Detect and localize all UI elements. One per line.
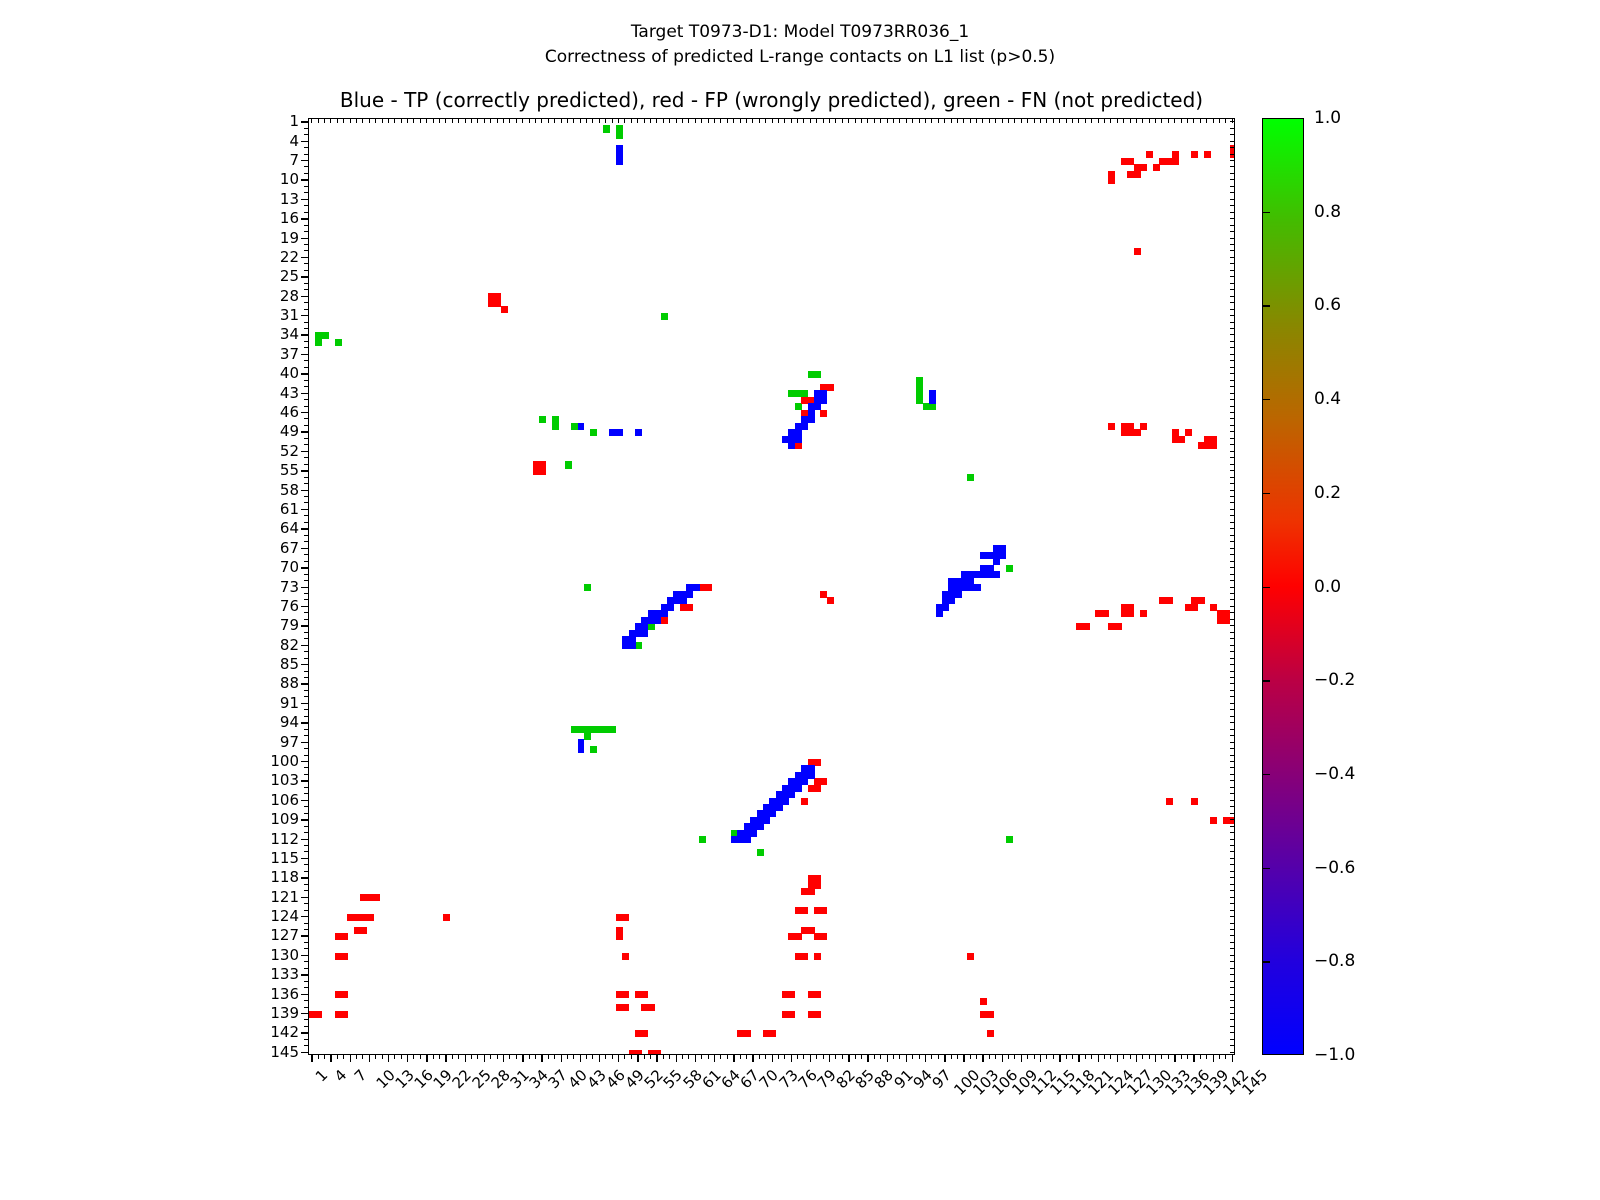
- y-minor-tick-right: [1230, 160, 1235, 161]
- contact-cell-fn: [539, 416, 546, 423]
- x-minor-tick-top: [465, 118, 466, 123]
- y-minor-tick: [304, 690, 308, 691]
- y-minor-tick-right: [1230, 218, 1235, 219]
- x-minor-tick-top: [618, 118, 619, 123]
- contact-cell-fp: [987, 1030, 994, 1037]
- y-minor-tick-right: [1230, 690, 1235, 691]
- contact-cell-tp: [667, 597, 674, 604]
- y-minor-tick: [304, 748, 308, 749]
- y-minor-tick-right: [1230, 121, 1235, 122]
- x-minor-tick-top: [791, 118, 792, 123]
- y-minor-tick-right: [1230, 696, 1235, 697]
- x-minor-tick-top: [311, 118, 312, 123]
- y-minor-tick-right: [1230, 1007, 1235, 1008]
- x-minor-tick: [631, 1055, 632, 1059]
- x-minor-tick: [420, 1055, 421, 1059]
- contact-cell-fn: [603, 125, 610, 132]
- x-minor-tick: [1053, 1055, 1054, 1059]
- y-minor-tick-right: [1230, 205, 1235, 206]
- y-minor-tick: [304, 619, 308, 620]
- x-minor-tick-top: [1168, 118, 1169, 123]
- y-axis-tick-label: 22: [280, 248, 299, 266]
- y-minor-tick: [304, 457, 308, 458]
- colorbar-tick-label: 1.0: [1314, 108, 1341, 128]
- contact-cell-fn: [814, 371, 821, 378]
- y-major-tick: [301, 1013, 308, 1014]
- x-major-tick: [1136, 1055, 1137, 1062]
- y-minor-tick: [304, 1045, 308, 1046]
- x-minor-tick-top: [1181, 118, 1182, 123]
- x-minor-tick: [970, 1055, 971, 1059]
- y-minor-tick: [304, 832, 308, 833]
- y-minor-tick-right: [1230, 451, 1235, 452]
- x-minor-tick: [880, 1055, 881, 1059]
- contact-cell-tp: [616, 429, 623, 436]
- x-minor-tick: [324, 1055, 325, 1059]
- y-axis-tick-label: 46: [280, 403, 299, 421]
- x-minor-tick: [458, 1055, 459, 1059]
- y-minor-tick-right: [1230, 574, 1235, 575]
- x-minor-tick: [650, 1055, 651, 1059]
- contact-cell-tp: [661, 610, 668, 617]
- y-major-tick: [301, 160, 308, 161]
- x-minor-tick-top: [880, 118, 881, 123]
- y-minor-tick-right: [1230, 263, 1235, 264]
- contact-cell-fp: [1204, 151, 1211, 158]
- y-minor-tick-right: [1230, 334, 1235, 335]
- x-minor-tick-top: [976, 118, 977, 123]
- contact-cell-fp: [622, 1004, 629, 1011]
- contact-cell-fp: [814, 953, 821, 960]
- contact-cell-tp: [999, 552, 1006, 559]
- x-minor-tick-top: [746, 118, 747, 123]
- y-major-tick: [301, 238, 308, 239]
- y-minor-tick-right: [1230, 386, 1235, 387]
- x-major-tick: [426, 1055, 427, 1062]
- contact-cell-fn: [699, 836, 706, 843]
- x-minor-tick: [874, 1055, 875, 1059]
- y-major-tick: [301, 315, 308, 316]
- x-minor-tick-top: [497, 118, 498, 123]
- x-major-tick: [1232, 1055, 1233, 1062]
- contact-cell-tp: [967, 578, 974, 585]
- y-minor-tick-right: [1230, 645, 1235, 646]
- contact-cell-tp: [788, 442, 795, 449]
- y-axis-tick-label: 10: [280, 170, 299, 188]
- x-major-tick: [599, 1055, 600, 1062]
- x-major-tick: [656, 1055, 657, 1062]
- x-minor-tick-top: [624, 118, 625, 123]
- x-minor-tick-top: [1040, 118, 1041, 123]
- contact-cell-fp: [827, 597, 834, 604]
- y-axis-tick-label: 25: [280, 267, 299, 285]
- x-minor-tick: [356, 1055, 357, 1059]
- x-minor-tick-top: [503, 118, 504, 123]
- y-minor-tick: [304, 755, 308, 756]
- contact-cell-fp: [661, 617, 668, 624]
- contact-cell-fp: [686, 604, 693, 611]
- y-minor-tick-right: [1230, 677, 1235, 678]
- y-minor-tick-right: [1230, 716, 1235, 717]
- x-minor-tick: [401, 1055, 402, 1059]
- y-minor-tick-right: [1230, 380, 1235, 381]
- x-minor-tick-top: [772, 118, 773, 123]
- x-minor-tick: [644, 1055, 645, 1059]
- x-major-tick: [714, 1055, 715, 1062]
- x-minor-tick: [592, 1055, 593, 1059]
- x-minor-tick-top: [413, 118, 414, 123]
- x-minor-tick-top: [963, 118, 964, 123]
- y-minor-tick-right: [1230, 244, 1235, 245]
- colorbar-tick-label: 0.8: [1314, 202, 1341, 222]
- y-minor-tick: [304, 541, 308, 542]
- x-minor-tick: [554, 1055, 555, 1059]
- y-minor-tick: [304, 360, 308, 361]
- y-axis-tick-label: 79: [280, 616, 299, 634]
- x-major-tick: [311, 1055, 312, 1062]
- y-minor-tick: [304, 302, 308, 303]
- x-minor-tick-top: [708, 118, 709, 123]
- y-axis-tick-label: 97: [280, 733, 299, 751]
- x-major-tick: [1193, 1055, 1194, 1062]
- contact-cell-tp: [731, 836, 738, 843]
- x-minor-tick: [1130, 1055, 1131, 1059]
- y-minor-tick-right: [1230, 864, 1235, 865]
- x-minor-tick-top: [714, 118, 715, 123]
- y-axis-tick-label: 121: [270, 888, 299, 906]
- colorbar-tick-label: −0.4: [1314, 764, 1355, 784]
- contact-cell-fp: [1140, 164, 1147, 171]
- x-minor-tick-top: [631, 118, 632, 123]
- y-minor-tick-right: [1230, 948, 1235, 949]
- x-minor-tick-top: [1123, 118, 1124, 123]
- y-minor-tick-right: [1230, 619, 1235, 620]
- contact-cell-tp: [629, 642, 636, 649]
- y-minor-tick: [304, 884, 308, 885]
- x-minor-tick-top: [803, 118, 804, 123]
- x-minor-tick: [938, 1055, 939, 1059]
- x-minor-tick-top: [759, 118, 760, 123]
- x-minor-tick-top: [324, 118, 325, 123]
- contact-map-plot: [308, 118, 1235, 1055]
- x-minor-tick-top: [529, 118, 530, 123]
- x-minor-tick: [989, 1055, 990, 1059]
- contact-cell-tp: [942, 604, 949, 611]
- x-major-tick: [829, 1055, 830, 1062]
- y-major-tick: [301, 548, 308, 549]
- y-minor-tick: [304, 658, 308, 659]
- x-minor-tick: [803, 1055, 804, 1059]
- x-minor-tick: [1187, 1055, 1188, 1059]
- y-axis-tick-label: 19: [280, 229, 299, 247]
- y-minor-tick: [304, 322, 308, 323]
- x-minor-tick-top: [1161, 118, 1162, 123]
- y-axis-tick-label: 91: [280, 694, 299, 712]
- x-minor-tick-top: [1136, 118, 1137, 123]
- x-minor-tick: [688, 1055, 689, 1059]
- x-major-tick: [1002, 1055, 1003, 1062]
- y-minor-tick: [304, 806, 308, 807]
- contact-cell-fp: [1185, 429, 1192, 436]
- x-minor-tick: [1085, 1055, 1086, 1059]
- contact-cell-fn: [335, 339, 342, 346]
- y-minor-tick-right: [1230, 270, 1235, 271]
- x-minor-tick: [452, 1055, 453, 1059]
- x-minor-tick: [931, 1055, 932, 1059]
- contact-cell-fn: [757, 849, 764, 856]
- y-major-tick: [301, 587, 308, 588]
- x-minor-tick: [1091, 1055, 1092, 1059]
- x-minor-tick: [605, 1055, 606, 1059]
- x-minor-tick-top: [337, 118, 338, 123]
- contact-cell-fp: [341, 953, 348, 960]
- contact-cell-fn: [590, 746, 597, 753]
- colorbar-tick: [1262, 587, 1270, 588]
- contact-cell-tp: [757, 823, 764, 830]
- x-minor-tick-top: [382, 118, 383, 123]
- x-minor-tick-top: [695, 118, 696, 123]
- y-minor-tick-right: [1230, 548, 1235, 549]
- y-minor-tick: [304, 477, 308, 478]
- y-axis-tick-label: 112: [270, 830, 299, 848]
- y-major-tick: [301, 877, 308, 878]
- x-minor-tick-top: [484, 118, 485, 123]
- y-minor-tick-right: [1230, 128, 1235, 129]
- contact-cell-fp: [1223, 617, 1230, 624]
- x-major-tick: [1040, 1055, 1041, 1062]
- y-minor-tick: [304, 289, 308, 290]
- y-minor-tick-right: [1230, 729, 1235, 730]
- y-minor-tick: [304, 502, 308, 503]
- contact-cell-fn: [661, 313, 668, 320]
- y-minor-tick-right: [1230, 1000, 1235, 1001]
- y-minor-tick-right: [1230, 490, 1235, 491]
- y-minor-tick-right: [1230, 406, 1235, 407]
- x-minor-tick-top: [701, 118, 702, 123]
- contact-cell-fp: [814, 991, 821, 998]
- contact-cell-fp: [801, 953, 808, 960]
- colorbar-tick-label: 0.4: [1314, 389, 1341, 409]
- y-minor-tick-right: [1230, 315, 1235, 316]
- y-minor-tick: [304, 871, 308, 872]
- x-minor-tick: [861, 1055, 862, 1059]
- x-minor-tick-top: [586, 118, 587, 123]
- y-major-tick: [301, 451, 308, 452]
- y-minor-tick: [304, 399, 308, 400]
- y-axis-tick-label: 49: [280, 422, 299, 440]
- contact-cell-fn: [584, 733, 591, 740]
- y-minor-tick: [304, 709, 308, 710]
- contact-cell-fp: [641, 1030, 648, 1037]
- y-minor-tick: [304, 651, 308, 652]
- contact-cell-tp: [961, 584, 968, 591]
- x-minor-tick-top: [1110, 118, 1111, 123]
- y-minor-tick: [304, 244, 308, 245]
- contact-cell-fn: [1006, 565, 1013, 572]
- y-minor-tick-right: [1230, 276, 1235, 277]
- y-minor-tick-right: [1230, 658, 1235, 659]
- x-minor-tick-top: [1085, 118, 1086, 123]
- x-minor-tick-top: [848, 118, 849, 123]
- x-minor-tick-top: [522, 118, 523, 123]
- contact-cell-fp: [616, 933, 623, 940]
- y-major-tick: [301, 935, 308, 936]
- x-minor-tick: [899, 1055, 900, 1059]
- x-minor-tick: [1206, 1055, 1207, 1059]
- x-axis-tick-label: 4: [331, 1066, 350, 1085]
- x-minor-tick-top: [369, 118, 370, 123]
- y-minor-tick-right: [1230, 147, 1235, 148]
- x-minor-tick: [1161, 1055, 1162, 1059]
- contact-cell-tp: [993, 571, 1000, 578]
- y-minor-tick-right: [1230, 897, 1235, 898]
- x-minor-tick: [516, 1055, 517, 1059]
- x-minor-tick: [413, 1055, 414, 1059]
- contact-cell-tp: [980, 571, 987, 578]
- contact-cell-fn: [565, 461, 572, 468]
- x-minor-tick: [823, 1055, 824, 1059]
- x-minor-tick: [490, 1055, 491, 1059]
- y-minor-tick: [304, 942, 308, 943]
- y-minor-tick: [304, 522, 308, 523]
- y-minor-tick: [304, 496, 308, 497]
- x-major-tick: [906, 1055, 907, 1062]
- x-minor-tick: [855, 1055, 856, 1059]
- y-minor-tick-right: [1230, 774, 1235, 775]
- x-minor-tick-top: [989, 118, 990, 123]
- y-minor-tick-right: [1230, 787, 1235, 788]
- x-major-tick: [1098, 1055, 1099, 1062]
- y-minor-tick-right: [1230, 890, 1235, 891]
- contact-cell-fn: [616, 132, 623, 139]
- y-minor-tick: [304, 599, 308, 600]
- contact-cell-fp: [1198, 597, 1205, 604]
- contact-cell-fp: [1191, 151, 1198, 158]
- y-minor-tick: [304, 948, 308, 949]
- y-minor-tick-right: [1230, 412, 1235, 413]
- x-axis-tick-label: 7: [350, 1066, 369, 1085]
- chart-title-block: Target T0973-D1: Model T0973RR036_1 Corr…: [0, 20, 1600, 70]
- contact-cell-tp: [955, 591, 962, 598]
- x-minor-tick: [477, 1055, 478, 1059]
- x-major-tick: [1174, 1055, 1175, 1062]
- x-minor-tick: [669, 1055, 670, 1059]
- y-minor-tick-right: [1230, 735, 1235, 736]
- x-minor-tick-top: [580, 118, 581, 123]
- x-minor-tick-top: [1193, 118, 1194, 123]
- y-minor-tick: [304, 173, 308, 174]
- y-axis-tick-label: 139: [270, 1004, 299, 1022]
- x-minor-tick-top: [669, 118, 670, 123]
- x-minor-tick: [708, 1055, 709, 1059]
- x-minor-tick: [337, 1055, 338, 1059]
- contact-cell-fp: [788, 991, 795, 998]
- y-major-tick: [301, 839, 308, 840]
- y-major-tick: [301, 664, 308, 665]
- x-minor-tick-top: [906, 118, 907, 123]
- contact-cell-fp: [820, 410, 827, 417]
- contact-cell-fp: [315, 1011, 322, 1018]
- y-minor-tick: [304, 225, 308, 226]
- x-major-tick: [733, 1055, 734, 1062]
- x-major-tick: [867, 1055, 868, 1062]
- y-minor-tick: [304, 283, 308, 284]
- contact-cell-tp: [776, 804, 783, 811]
- y-major-tick: [301, 276, 308, 277]
- contact-cell-fp: [501, 306, 508, 313]
- y-minor-tick-right: [1230, 367, 1235, 368]
- y-axis-tick-label: 70: [280, 558, 299, 576]
- x-minor-tick-top: [1066, 118, 1067, 123]
- contact-cell-fp: [1178, 436, 1185, 443]
- x-minor-tick: [1219, 1055, 1220, 1059]
- x-minor-tick: [509, 1055, 510, 1059]
- y-minor-tick-right: [1230, 587, 1235, 588]
- x-major-tick: [1117, 1055, 1118, 1062]
- x-minor-tick: [497, 1055, 498, 1059]
- x-minor-tick: [740, 1055, 741, 1059]
- y-minor-tick-right: [1230, 664, 1235, 665]
- x-minor-tick-top: [1200, 118, 1201, 123]
- y-major-tick: [301, 1032, 308, 1033]
- contact-cell-fn: [590, 429, 597, 436]
- y-minor-tick-right: [1230, 296, 1235, 297]
- x-minor-tick-top: [330, 118, 331, 123]
- y-minor-tick-right: [1230, 328, 1235, 329]
- y-minor-tick-right: [1230, 987, 1235, 988]
- y-minor-tick: [304, 851, 308, 852]
- colorbar-tick: [1262, 868, 1270, 869]
- y-major-tick: [301, 509, 308, 510]
- y-minor-tick-right: [1230, 502, 1235, 503]
- y-minor-tick-right: [1230, 929, 1235, 930]
- y-minor-tick-right: [1230, 916, 1235, 917]
- contact-cell-fp: [539, 468, 546, 475]
- y-minor-tick-right: [1230, 309, 1235, 310]
- x-minor-tick-top: [874, 118, 875, 123]
- contact-cell-tp: [635, 429, 642, 436]
- x-minor-tick: [720, 1055, 721, 1059]
- x-major-tick: [925, 1055, 926, 1062]
- y-major-tick: [301, 606, 308, 607]
- y-minor-tick: [304, 612, 308, 613]
- x-minor-tick-top: [1149, 118, 1150, 123]
- x-minor-tick-top: [752, 118, 753, 123]
- x-minor-tick-top: [1117, 118, 1118, 123]
- x-minor-tick-top: [816, 118, 817, 123]
- y-minor-tick-right: [1230, 851, 1235, 852]
- x-major-tick: [772, 1055, 773, 1062]
- y-minor-tick: [304, 845, 308, 846]
- contact-cell-tp: [680, 597, 687, 604]
- y-minor-tick-right: [1230, 683, 1235, 684]
- x-minor-tick: [701, 1055, 702, 1059]
- x-minor-tick-top: [925, 118, 926, 123]
- contact-cell-fp: [1153, 164, 1160, 171]
- x-minor-tick-top: [720, 118, 721, 123]
- y-minor-tick-right: [1230, 599, 1235, 600]
- contact-cell-fp: [1191, 604, 1198, 611]
- y-axis-tick-label: 7: [289, 151, 299, 169]
- x-minor-tick-top: [375, 118, 376, 123]
- y-major-tick: [301, 645, 308, 646]
- x-major-tick: [810, 1055, 811, 1062]
- y-minor-tick: [304, 923, 308, 924]
- contact-cell-fp: [367, 914, 374, 921]
- y-minor-tick: [304, 438, 308, 439]
- y-major-tick: [301, 490, 308, 491]
- y-minor-tick-right: [1230, 968, 1235, 969]
